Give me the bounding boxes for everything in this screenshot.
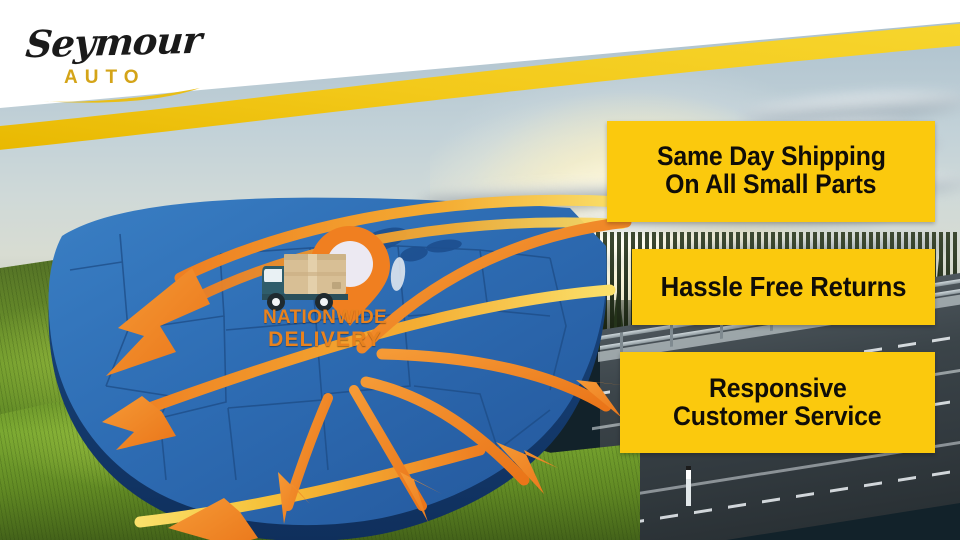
banner-line: On All Small Parts bbox=[665, 171, 876, 199]
banner-line: Hassle Free Returns bbox=[661, 273, 907, 302]
roadside-marker-post bbox=[686, 466, 691, 506]
logo-subtext: AUTO bbox=[64, 67, 145, 89]
brand-logo[interactable]: Seymour AUTO bbox=[18, 14, 218, 100]
headline-line-2: DELIVERY bbox=[255, 329, 395, 352]
nationwide-delivery-headline: NATIONWIDE DELIVERY bbox=[255, 308, 395, 351]
banner-line: Same Day Shipping bbox=[657, 143, 886, 171]
banner-line: Customer Service bbox=[673, 403, 881, 431]
banner-hassle-free-returns[interactable]: Hassle Free Returns bbox=[632, 249, 935, 325]
logo-wordmark: Seymour bbox=[24, 18, 203, 67]
banner-line: Responsive bbox=[709, 375, 847, 403]
banner-responsive-customer-service[interactable]: Responsive Customer Service bbox=[620, 352, 935, 453]
logo-swoosh-icon bbox=[40, 88, 202, 104]
banner-same-day-shipping[interactable]: Same Day Shipping On All Small Parts bbox=[607, 121, 935, 222]
headline-line-1: NATIONWIDE bbox=[255, 308, 395, 329]
promo-banner-canvas: Seymour AUTO bbox=[0, 0, 960, 540]
